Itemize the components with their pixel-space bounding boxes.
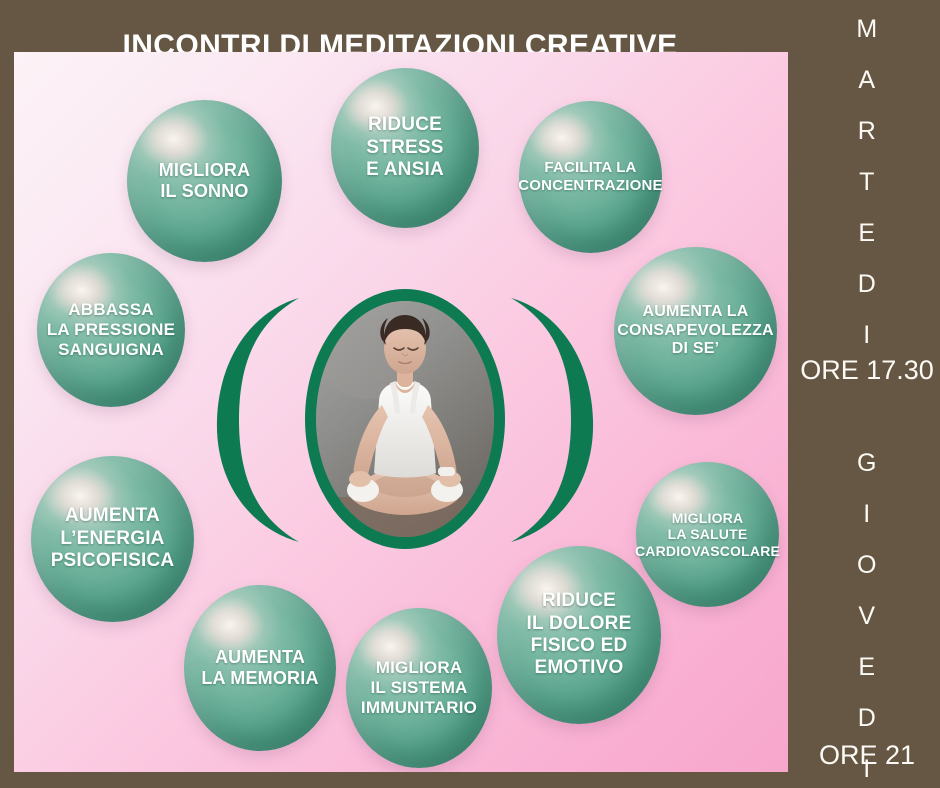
letter: O [794,540,940,591]
bubble-migliora-il-sonno[interactable]: MIGLIORA IL SONNO [127,100,282,262]
bubble-label: ABBASSA LA PRESSIONE SANGUIGNA [37,300,185,360]
letter: I [794,310,940,361]
letter: A [794,55,940,106]
letter: M [794,4,940,55]
bubble-aumenta-la-consapevolezza[interactable]: AUMENTA LA CONSAPEVOLEZZA DI SE’ [614,247,777,415]
bubble-migliora-la-salute-cardiovascolare[interactable]: MIGLIORA LA SALUTE CARDIOVASCOLARE [636,462,779,607]
bubble-migliora-il-sistema-immunitario[interactable]: MIGLIORA IL SISTEMA IMMUNITARIO [346,608,492,768]
bubble-riduce-stress-e-ansia[interactable]: RIDUCE STRESS E ANSIA [331,68,479,228]
bubble-aumenta-lenergia-psicofisica[interactable]: AUMENTA L’ENERGIA PSICOFISICA [31,456,194,622]
bubble-riduce-il-dolore[interactable]: RIDUCE IL DOLORE FISICO ED EMOTIVO [497,546,661,724]
bubble-label: MIGLIORA IL SISTEMA IMMUNITARIO [346,658,492,718]
bubble-facilita-la-concentrazione[interactable]: FACILITA LA CONCENTRAZIONE [519,101,662,253]
letter: E [794,642,940,693]
letter: D [794,693,940,744]
letter: D [794,259,940,310]
bubble-aumenta-la-memoria[interactable]: AUMENTA LA MEMORIA [184,585,336,751]
letter: G [794,438,940,489]
letter: R [794,106,940,157]
schedule-day-one-time: ORE 17.30 [794,355,940,386]
bubble-label: AUMENTA LA MEMORIA [184,647,336,689]
meditation-photo [316,301,494,537]
poster: INCONTRI DI MEDITAZIONI CREATIVE [0,0,940,788]
letter: I [794,489,940,540]
left-bracket-icon [195,295,303,545]
schedule-day-one: MARTEDI [794,4,940,361]
schedule-day-two-time: ORE 21 [794,740,940,771]
bubble-label: MIGLIORA LA SALUTE CARDIOVASCOLARE [635,510,780,560]
schedule-day-two: GIOVEDI [794,438,940,788]
letter: V [794,591,940,642]
schedule-rail: MARTEDI ORE 17.30 GIOVEDI ORE 21 [794,0,940,788]
poster-stage: MIGLIORA IL SONNO RIDUCE STRESS E ANSIA … [14,52,788,772]
letter: E [794,208,940,259]
center-composition [195,295,615,545]
bubble-label: AUMENTA LA CONSAPEVOLEZZA DI SE’ [614,303,777,360]
bubble-abbassa-la-pressione-sanguigna[interactable]: ABBASSA LA PRESSIONE SANGUIGNA [37,253,185,407]
bubble-label: RIDUCE STRESS E ANSIA [331,114,479,181]
letter: T [794,157,940,208]
bubble-label: AUMENTA L’ENERGIA PSICOFISICA [31,505,194,572]
bubble-label: FACILITA LA CONCENTRAZIONE [518,159,662,194]
right-bracket-icon [507,295,615,545]
meditation-photo-ring [305,285,505,553]
bubble-label: MIGLIORA IL SONNO [127,160,282,202]
bubble-label: RIDUCE IL DOLORE FISICO ED EMOTIVO [497,590,661,680]
